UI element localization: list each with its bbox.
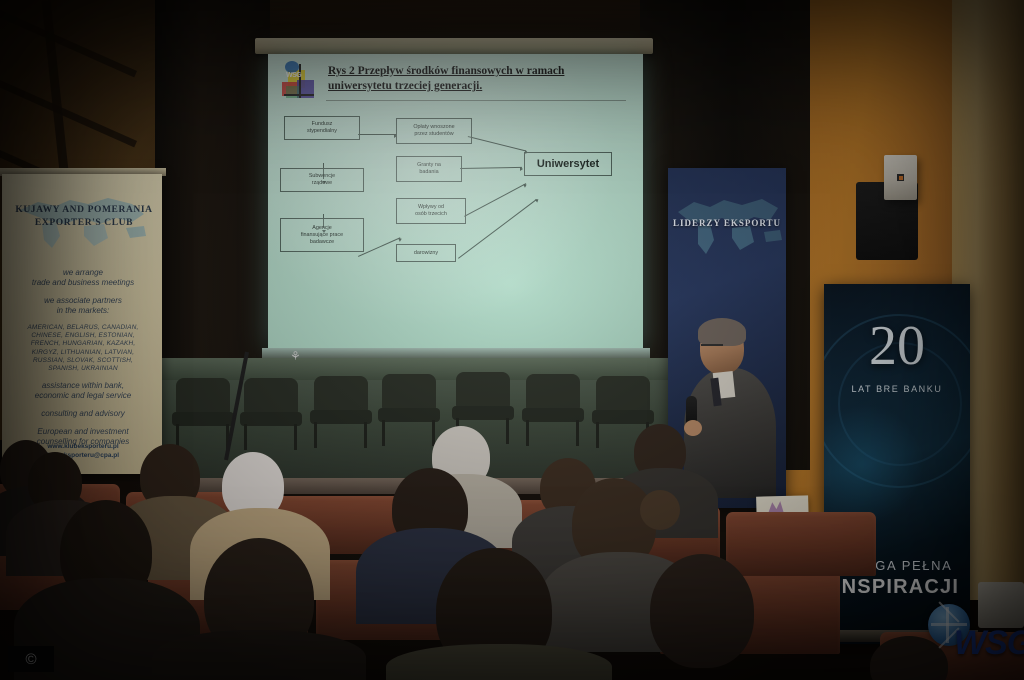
lb-m4: KIRGYZ, LITHUANIAN, LATVIAN, [32, 349, 134, 356]
lb-p1l2: trade and business meetings [32, 278, 134, 287]
presentation-slide: WSG Rys 2 Przepływ środków finansowych w… [268, 54, 643, 350]
wsg-watermark: WSG [928, 604, 1020, 666]
arrowhead-6 [520, 167, 523, 171]
node-agencje: Agencjefinansujące pracebadawcze [280, 218, 364, 252]
edge-oplaty-uni [468, 136, 526, 151]
lb-p1l1: we arrange [63, 268, 103, 277]
node-oplaty: Opłaty wnoszoneprzez studentów [396, 118, 472, 144]
arrowhead-8 [535, 198, 540, 203]
edge-agencje-granty [358, 237, 400, 257]
presenter-hair [698, 318, 746, 346]
left-banner-title-line1: KUJAWY AND POMERANIA [15, 205, 152, 215]
bre-tagline-line2: INSPIRACJI [824, 576, 970, 599]
bre-anniversary-number: 20 [824, 318, 970, 374]
copyright-badge: © [8, 646, 54, 672]
lb-m5: RUSSIAN, SLOVAK, SCOTTISH, [33, 357, 133, 364]
edge-fundusz-oplaty [358, 134, 396, 135]
node-darowizny: darowizny [396, 244, 456, 262]
lb-url1: www.klubeksporteru.pl [47, 443, 118, 450]
microphone-icon: ⚘ [290, 350, 301, 362]
edge-darowizny-uni [458, 199, 537, 259]
presenter-hand [684, 420, 702, 436]
audience-shoulders [152, 630, 366, 680]
left-banner-title: KUJAWY AND POMERANIA EXPORTER'S CLUB [10, 204, 158, 230]
screen-lower-edge [262, 348, 650, 358]
node-fundusz: Funduszstypendialny [284, 116, 360, 140]
navy-banner-title: LIDERZY EKSPORTU [670, 218, 784, 228]
conference-photo: WSG Rys 2 Przepływ środków finansowych w… [0, 0, 1024, 680]
stage-chair [240, 378, 302, 450]
wall-speaker [884, 155, 917, 200]
lb-m1: AMERICAN, BELARUS, CANADIAN, [27, 324, 138, 331]
stage-chair [172, 378, 234, 450]
left-banner-title-line2: EXPORTER'S CLUB [35, 218, 133, 228]
slide-wsg-logo-icon: WSG [280, 60, 320, 106]
audience-head [650, 554, 754, 668]
slide-diagram: Funduszstypendialny Subwencjerządowe Age… [268, 106, 643, 346]
node-subwencje: Subwencjerządowe [280, 168, 364, 192]
stage-chair [522, 374, 584, 446]
bre-glow [824, 404, 924, 524]
edge-wplywy-uni [464, 183, 526, 217]
bre-anniversary-subtitle: LAT BRE BANKU [824, 384, 970, 394]
presenter-glasses-icon [701, 344, 723, 346]
stage-chair [310, 376, 372, 448]
bre-bank-banner: 20 LAT BRE BANKU DROGA PEŁNA INSPIRACJI [824, 284, 970, 644]
audience-shoulders [386, 644, 612, 680]
lb-p3l2: economic and legal service [35, 391, 132, 400]
stage-chair [378, 374, 440, 446]
lb-m3: FRENCH, HUNGARIAN, KAZAKH, [31, 340, 136, 347]
lb-p4: consulting and advisory [41, 409, 125, 418]
edge-granty-uni [460, 167, 522, 169]
lb-p3l1: assistance within bank, [42, 381, 124, 390]
title-divider [326, 100, 626, 101]
slide-logo-text: WSG [286, 72, 301, 79]
left-banner-markets: AMERICAN, BELARUS, CANADIAN, CHINESE, EN… [8, 324, 158, 373]
lb-p2l2: in the markets: [57, 306, 109, 315]
left-banner-body: we arrange trade and business meetings w… [8, 268, 158, 455]
slide-title: Rys 2 Przepływ środków finansowych w ram… [328, 64, 624, 94]
speaker-badge-icon [897, 174, 904, 181]
audience-hair-bun [640, 490, 680, 530]
projector-screen-case [255, 38, 653, 54]
arrowhead-7 [523, 183, 528, 188]
lb-m2: CHINESE, ENGLISH, ESTONIAN, [31, 332, 134, 339]
node-wplywy: Wpływy odosób trzecich [396, 198, 466, 224]
node-granty: Granty nabadania [396, 156, 462, 182]
lb-m6: SPANISH, UKRAINIAN [48, 365, 118, 372]
lb-p5l1: European and investment [37, 427, 128, 436]
wsg-watermark-text: WSG [954, 626, 1024, 660]
arrowhead-4 [398, 237, 402, 242]
lb-p2l1: we associate partners [44, 296, 122, 305]
audience-seat [726, 512, 876, 576]
node-uniwersytet: Uniwersytet [524, 152, 612, 176]
left-banner-exporters-club: KUJAWY AND POMERANIA EXPORTER'S CLUB we … [2, 174, 162, 474]
slide-title-line2: uniwersytetu trzeciej generacji. [328, 80, 482, 92]
slide-title-line1: Rys 2 Przepływ środków finansowych w ram… [328, 65, 564, 77]
projection-screen: WSG Rys 2 Przepływ środków finansowych w… [268, 54, 643, 350]
